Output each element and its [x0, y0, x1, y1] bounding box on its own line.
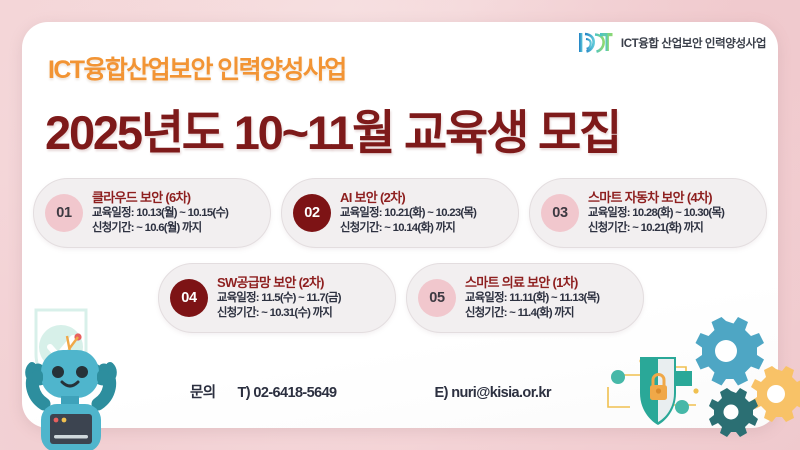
gear-dark-icon: [709, 388, 758, 437]
gear-blue-icon: [696, 317, 765, 386]
course-title: 스마트 자동차 보안 (4차): [588, 190, 724, 206]
course-number-badge: 01: [45, 194, 83, 232]
course-row-1: 01 클라우드 보안 (6차) 교육일정: 10.13(월) ~ 10.15(수…: [33, 178, 767, 248]
course-card-04[interactable]: 04 SW공급망 보안 (2차) 교육일정: 11.5(수) ~ 11.7(금)…: [158, 263, 396, 333]
course-apply-period: 신청기간: ~ 10.21(화) 까지: [588, 222, 724, 236]
course-card-02[interactable]: 02 AI 보안 (2차) 교육일정: 10.21(화) ~ 10.23(목) …: [281, 178, 519, 248]
course-schedule: 교육일정: 10.13(월) ~ 10.15(수): [92, 207, 228, 221]
course-schedule: 교육일정: 11.11(화) ~ 11.13(목): [465, 292, 599, 306]
course-apply-period: 신청기간: ~ 11.4(화) 까지: [465, 307, 599, 321]
course-schedule: 교육일정: 10.21(화) ~ 10.23(목): [340, 207, 476, 221]
course-schedule: 교육일정: 11.5(수) ~ 11.7(금): [217, 292, 341, 306]
security-robot-icon: [8, 292, 148, 450]
course-title: 클라우드 보안 (6차): [92, 190, 228, 206]
course-number-badge: 03: [541, 194, 579, 232]
course-row-2: 04 SW공급망 보안 (2차) 교육일정: 11.5(수) ~ 11.7(금)…: [158, 263, 644, 333]
contact-email[interactable]: E) nuri@kisia.or.kr: [435, 385, 551, 401]
brand-logo-text: ICT융합 산업보안 인력양성사업: [621, 35, 766, 51]
shield-lock-icon: [640, 357, 676, 425]
ict-convergence-logo-icon: [578, 30, 614, 55]
gear-orange-icon: [751, 366, 800, 422]
course-number-badge: 04: [170, 279, 208, 317]
poster-subtitle: ICT융합산업보안 인력양성사업: [48, 50, 346, 86]
contact-label: 문의: [190, 381, 215, 402]
gears-icon: [600, 315, 800, 450]
course-title: SW공급망 보안 (2차): [217, 275, 341, 291]
course-title: 스마트 의료 보안 (1차): [465, 275, 599, 291]
course-schedule: 교육일정: 10.28(화) ~ 10.30(목): [588, 207, 724, 221]
contact-phone[interactable]: T) 02-6418-5649: [237, 385, 336, 401]
course-number-badge: 02: [293, 194, 331, 232]
brand-logo: ICT융합 산업보안 인력양성사업: [578, 30, 766, 55]
course-number-badge: 05: [418, 279, 456, 317]
contact-bar: 문의 T) 02-6418-5649 E) nuri@kisia.or.kr: [190, 381, 551, 402]
course-apply-period: 신청기간: ~ 10.14(화) 까지: [340, 222, 476, 236]
course-title: AI 보안 (2차): [340, 190, 476, 206]
course-apply-period: 신청기간: ~ 10.6(월) 까지: [92, 222, 228, 236]
course-card-01[interactable]: 01 클라우드 보안 (6차) 교육일정: 10.13(월) ~ 10.15(수…: [33, 178, 271, 248]
course-card-03[interactable]: 03 스마트 자동차 보안 (4차) 교육일정: 10.28(화) ~ 10.3…: [529, 178, 767, 248]
poster-headline: 2025년도 10~11월 교육생 모집: [45, 94, 620, 163]
course-apply-period: 신청기간: ~ 10.31(수) 까지: [217, 307, 341, 321]
poster-root: ICT융합 산업보안 인력양성사업 ICT융합산업보안 인력양성사업 2025년…: [0, 0, 800, 450]
